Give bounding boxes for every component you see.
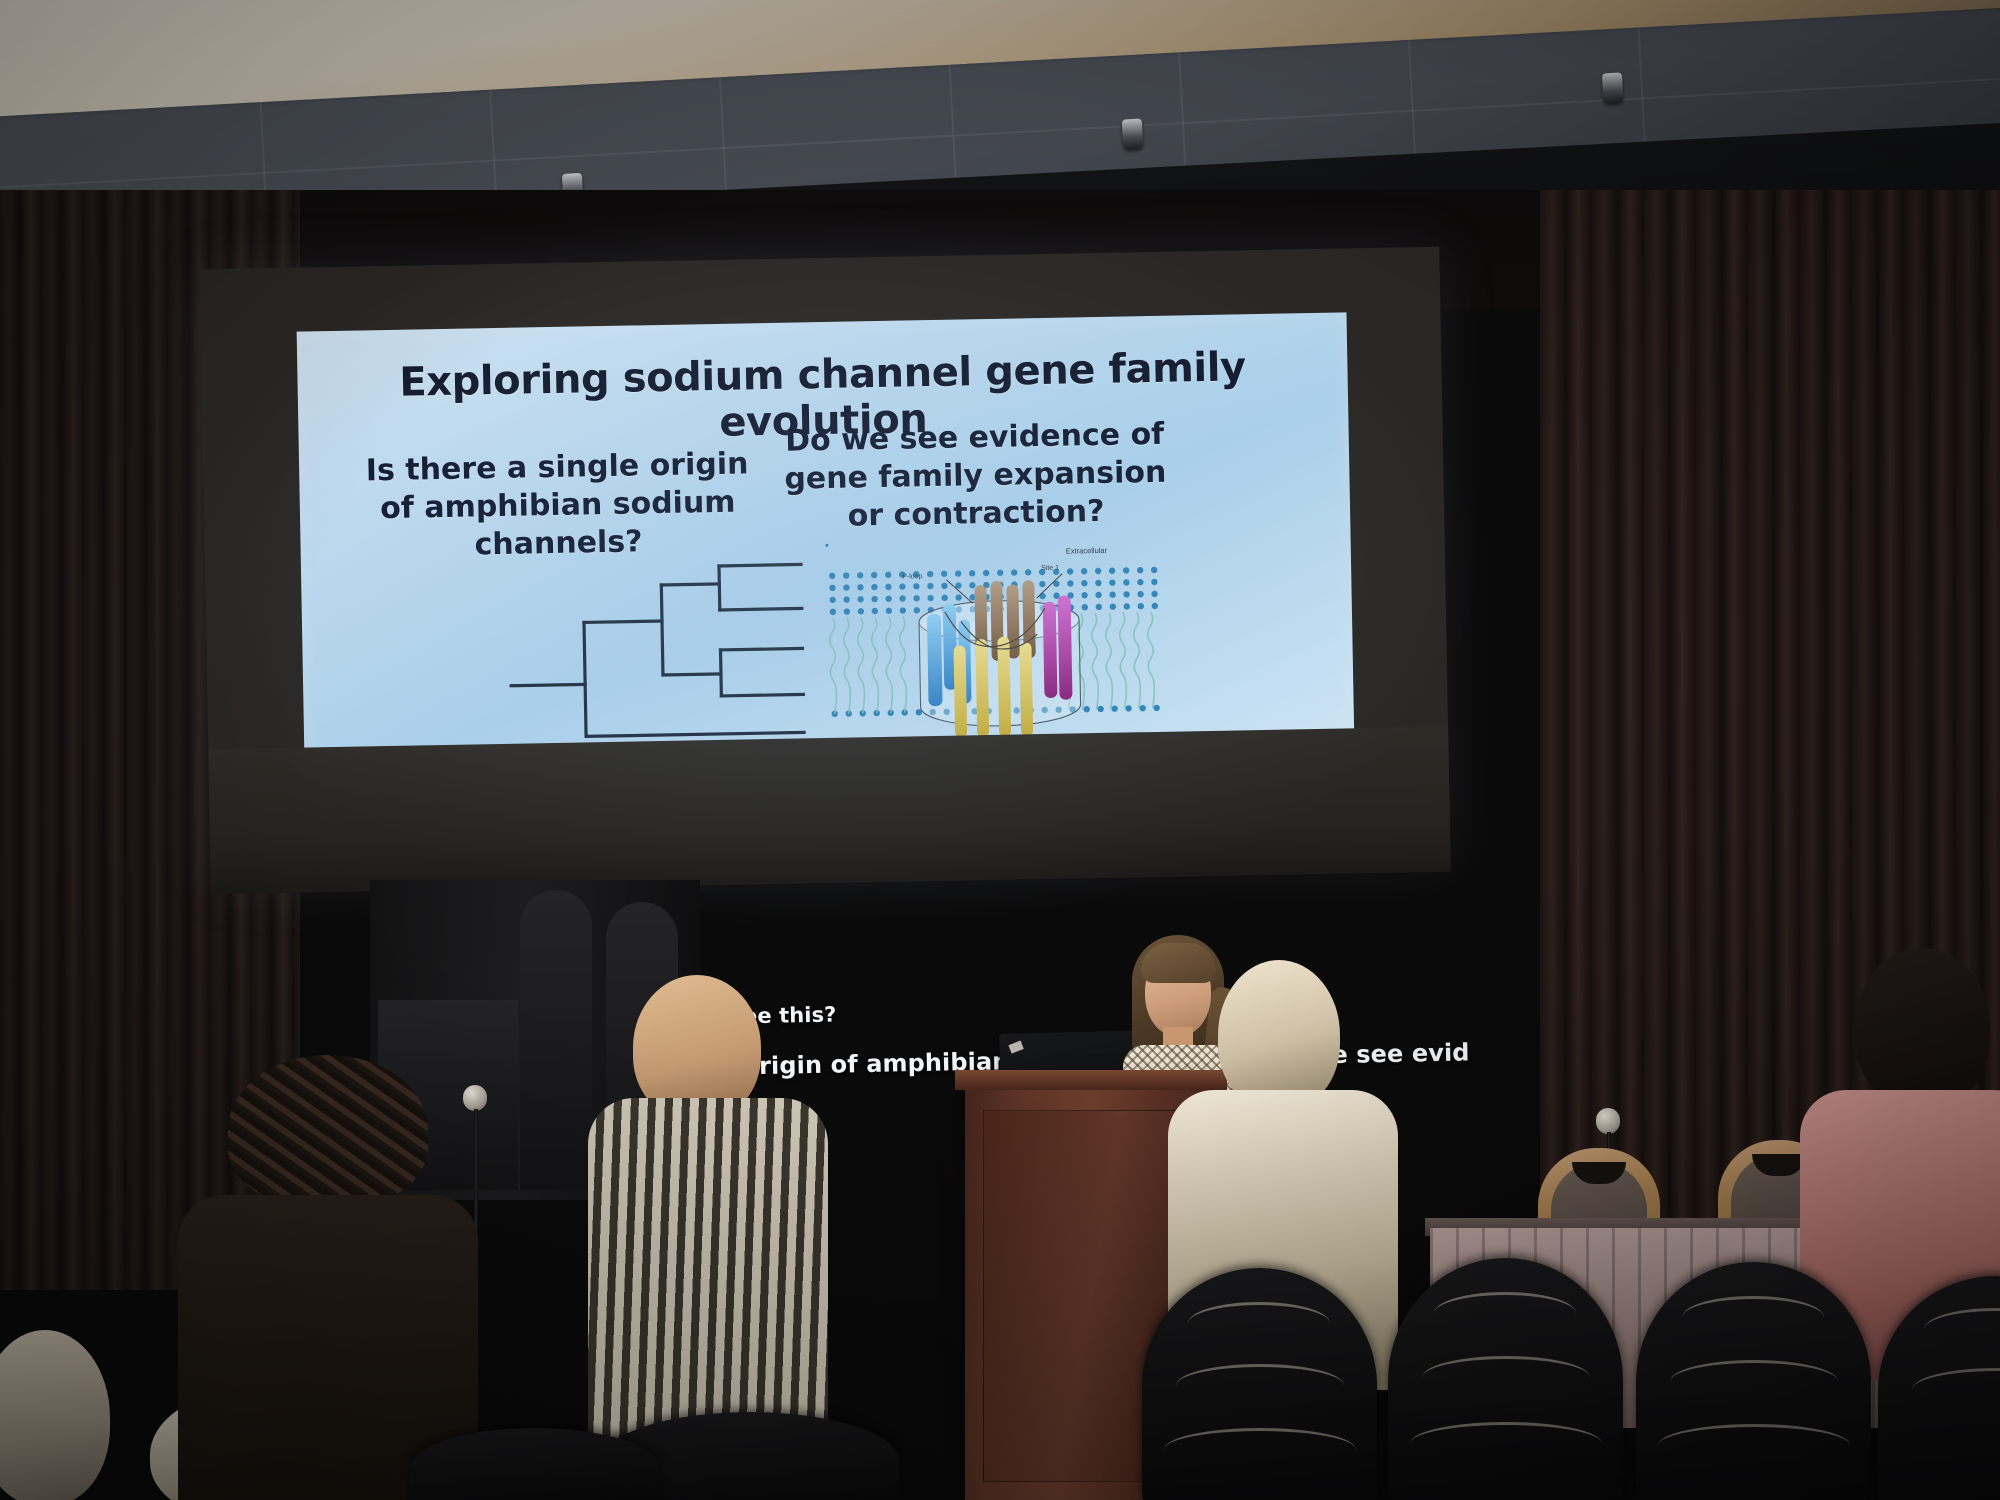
label-extracellular: Extracellular: [1066, 546, 1108, 556]
projection-screen: Exploring sodium channel gene family evo…: [199, 247, 1450, 885]
label-p-loop: P-loop: [902, 573, 922, 580]
audience-head: [1855, 948, 1990, 1108]
ceiling-spotlight-icon: [1122, 118, 1144, 149]
audience-chair: [1636, 1262, 1871, 1500]
microphone-icon: [463, 1085, 487, 1111]
slide-question-left: Is there a single origin of amphibian so…: [357, 445, 759, 566]
audience-chair: [410, 1428, 660, 1500]
audience-chair: [1878, 1276, 2000, 1500]
slide-question-right: Do we see evidence of gene family expans…: [764, 415, 1186, 536]
microphone-icon: [1596, 1108, 1620, 1134]
sodium-channel-membrane-diagram: Extracellular Intracellular P-loop Site …: [826, 538, 1170, 759]
phylogenetic-tree-figure: [501, 560, 824, 751]
laptop-logo-icon: [1008, 1040, 1023, 1053]
label-site-1: Site 1: [1041, 565, 1059, 572]
audience-chair: [1388, 1258, 1623, 1500]
audience-chair: [1142, 1268, 1377, 1500]
screen-lower-dark-band: [208, 727, 1450, 895]
conference-room-photo: Exploring sodium channel gene family evo…: [0, 0, 2000, 1500]
presenter-hair-front: [1141, 943, 1216, 983]
audience-head: [1218, 960, 1340, 1110]
ceiling-spotlight-icon: [1602, 72, 1624, 103]
audience-head: [228, 1055, 428, 1205]
podium-top-surface: [955, 1070, 1227, 1090]
